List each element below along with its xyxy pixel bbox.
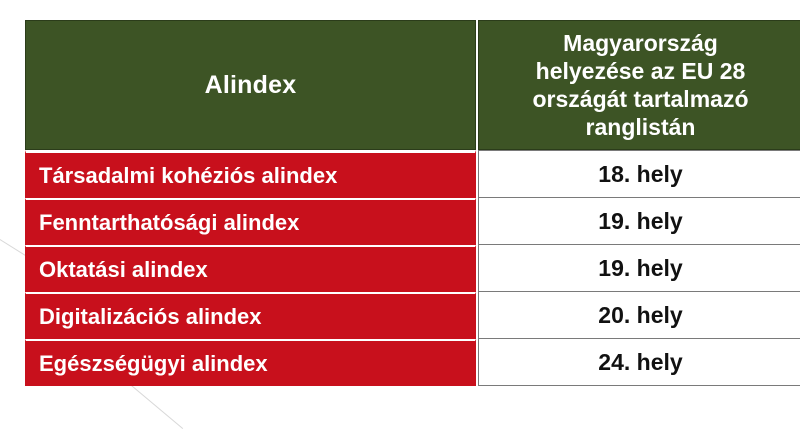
column-header-ranking-line-2: helyezése az EU 28 [491,57,790,85]
row-value: 18. hely [478,150,800,198]
table-row: Oktatási alindex 19. hely [25,245,800,292]
table-body: Társadalmi kohéziós alindex 18. hely Fen… [25,150,800,386]
column-header-ranking: Magyarország helyezése az EU 28 országát… [478,20,800,150]
rank-table-container: Alindex Magyarország helyezése az EU 28 … [25,20,775,386]
row-value: 19. hely [478,245,800,292]
row-label: Egészségügyi alindex [25,339,476,386]
column-header-subindex: Alindex [25,20,476,150]
column-header-ranking-line-3: országát tartalmazó [491,85,790,113]
table-header: Alindex Magyarország helyezése az EU 28 … [25,20,800,150]
table-row: Digitalizációs alindex 20. hely [25,292,800,339]
table-row: Fenntarthatósági alindex 19. hely [25,198,800,245]
table-row: Egészségügyi alindex 24. hely [25,339,800,386]
row-label: Digitalizációs alindex [25,292,476,339]
column-header-ranking-line-1: Magyarország [491,29,790,57]
background-diagonal-line-bottom [127,382,183,429]
row-label: Oktatási alindex [25,245,476,292]
row-label: Fenntarthatósági alindex [25,198,476,245]
row-value: 20. hely [478,292,800,339]
subindex-ranking-table: Alindex Magyarország helyezése az EU 28 … [25,20,800,386]
row-value: 19. hely [478,198,800,245]
row-label: Társadalmi kohéziós alindex [25,150,476,198]
table-header-row: Alindex Magyarország helyezése az EU 28 … [25,20,800,150]
table-row: Társadalmi kohéziós alindex 18. hely [25,150,800,198]
column-header-ranking-line-4: ranglistán [491,113,790,141]
row-value: 24. hely [478,339,800,386]
